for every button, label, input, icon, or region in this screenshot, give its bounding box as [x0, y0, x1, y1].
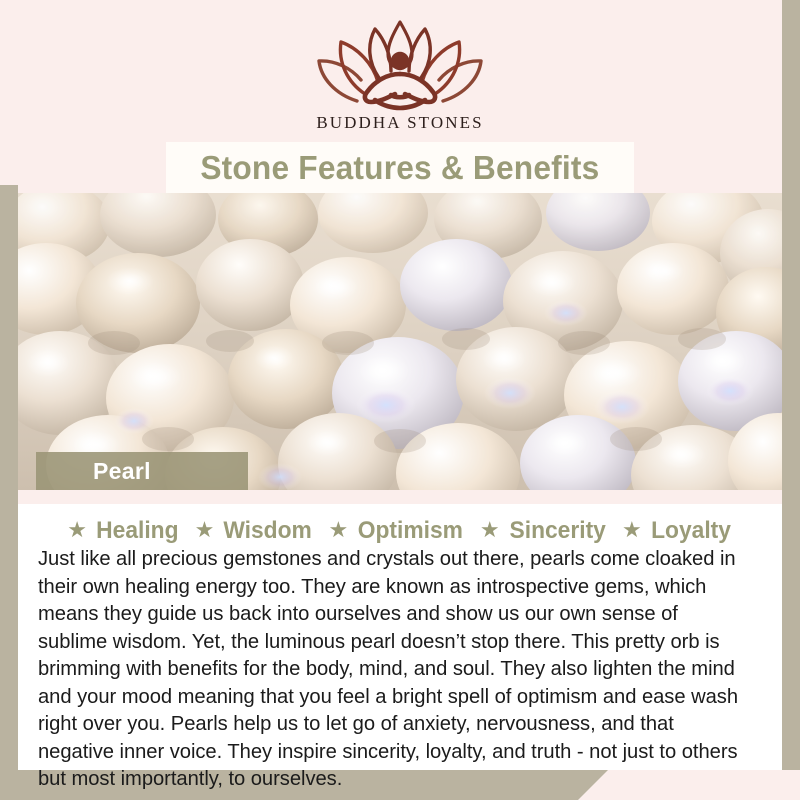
page-title: Stone Features & Benefits [200, 151, 599, 184]
pearl-photo [18, 193, 782, 490]
benefit-item-sincerity: ★ Sincerity [480, 519, 608, 543]
benefit-item-optimism: ★ Optimism [328, 519, 465, 543]
benefit-label: Loyalty [651, 519, 731, 543]
title-banner: Stone Features & Benefits [166, 142, 634, 193]
star-icon: ★ [328, 519, 348, 541]
benefit-item-loyalty: ★ Loyalty [622, 519, 733, 543]
lotus-meditation-icon [18, 16, 782, 111]
star-icon: ★ [67, 519, 87, 541]
star-icon: ★ [480, 519, 500, 541]
benefit-label: Optimism [358, 519, 463, 543]
photo-panel-divider [18, 490, 782, 504]
brand-name: BUDDHA STONES [18, 113, 782, 133]
benefit-label: Wisdom [224, 519, 312, 543]
benefit-item-healing: ★ Healing [67, 519, 180, 543]
star-icon: ★ [622, 519, 642, 541]
infographic-page: BUDDHA STONES Stone Features & Benefits [0, 0, 800, 800]
benefit-label: Healing [96, 519, 178, 543]
brand-logo: BUDDHA STONES [18, 16, 782, 133]
star-icon: ★ [195, 519, 215, 541]
benefit-label: Sincerity [509, 519, 605, 543]
stone-description: Just like all precious gemstones and cry… [38, 545, 751, 793]
left-decorative-band [0, 185, 18, 800]
right-decorative-band [782, 0, 800, 770]
stone-name: Pearl [93, 458, 151, 485]
benefits-list: ★ Healing ★ Wisdom ★ Optimism ★ Sincerit… [38, 519, 762, 543]
benefit-item-wisdom: ★ Wisdom [195, 519, 315, 543]
photo-caption-bar: Pearl [36, 452, 248, 490]
content-panel: ★ Healing ★ Wisdom ★ Optimism ★ Sincerit… [18, 504, 782, 770]
